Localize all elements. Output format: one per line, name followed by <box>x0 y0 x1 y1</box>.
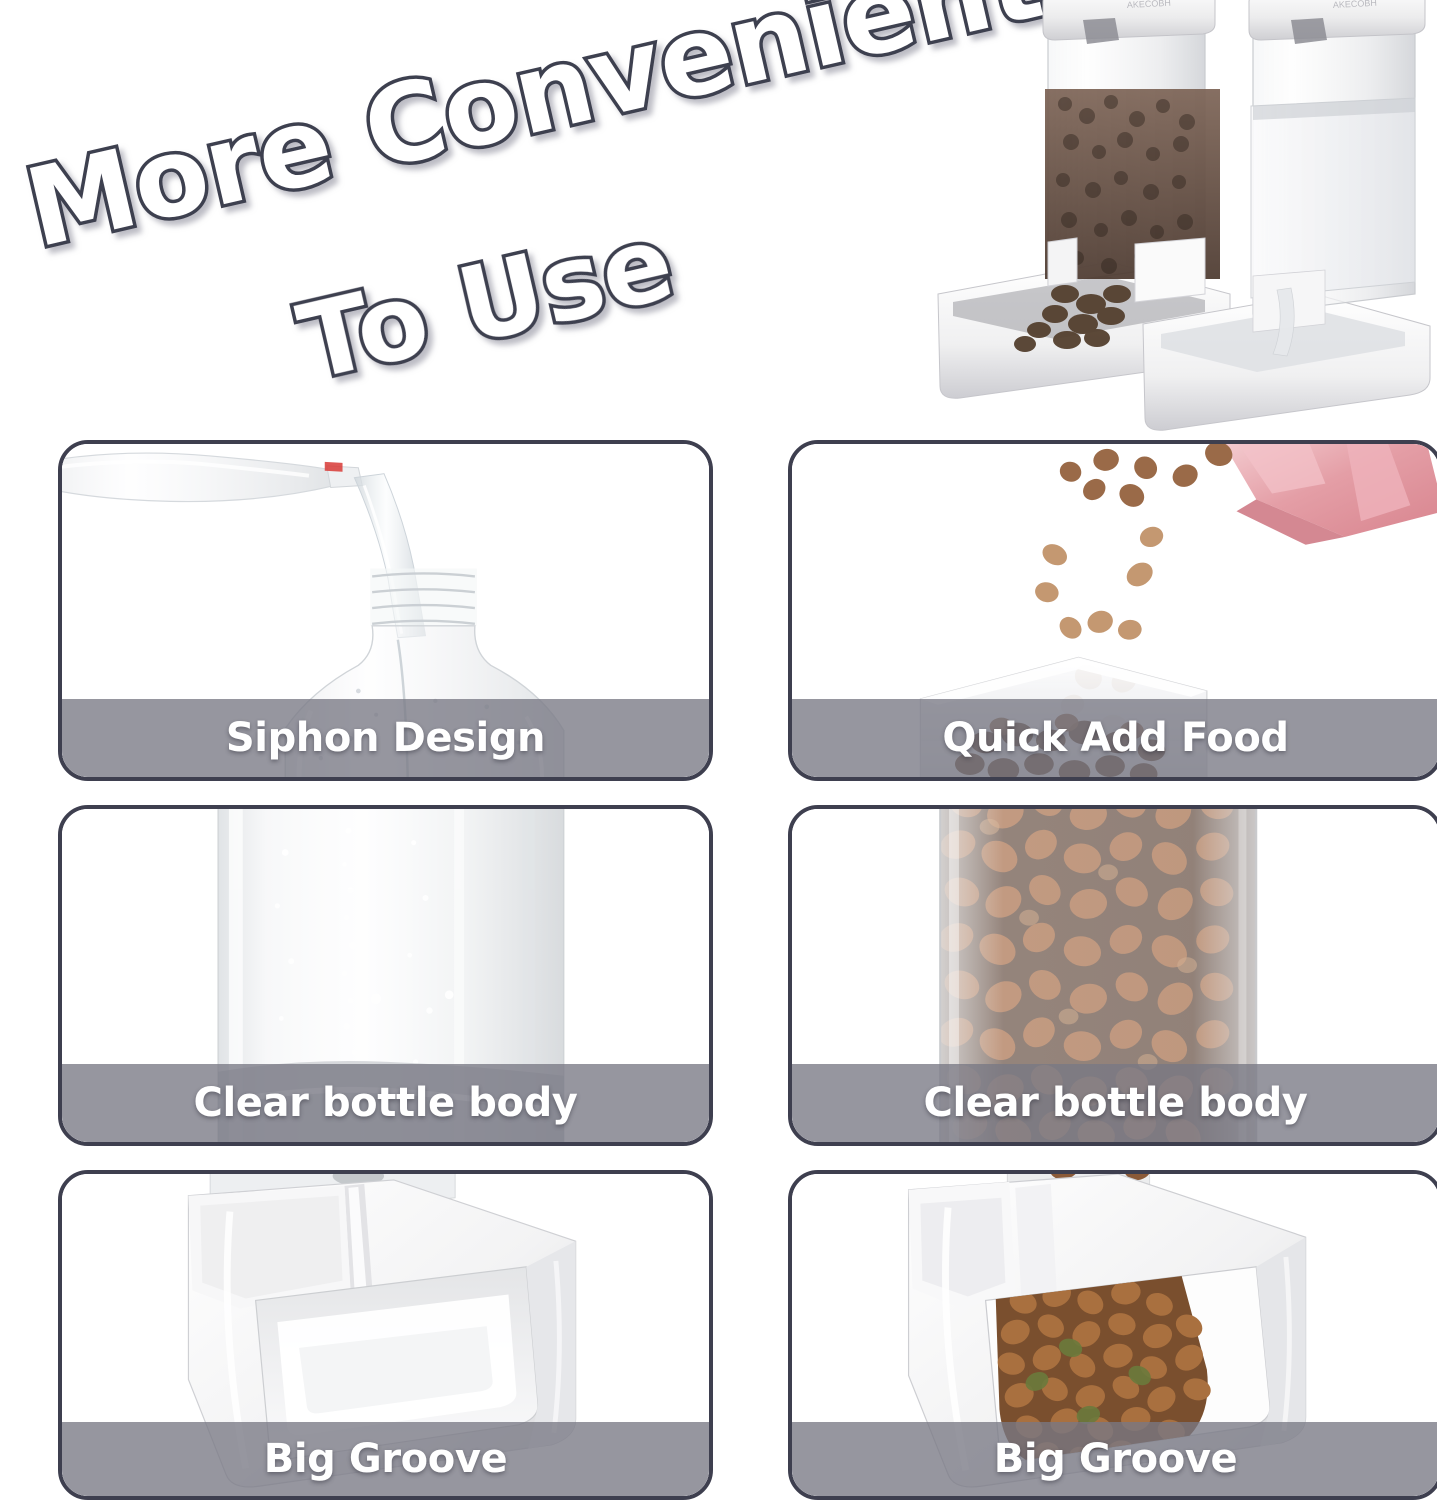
photo-empty-water-bowl-groove <box>62 1174 709 1496</box>
hero-title-line-2: To Use <box>289 202 684 404</box>
photo-kibble-pour-from-bag <box>792 444 1437 777</box>
feature-card-big-groove-food[interactable]: Big Groove <box>788 1170 1437 1500</box>
photo-kibble-filled-bowl-groove <box>792 1174 1437 1496</box>
photo-clear-food-container <box>792 809 1437 1142</box>
photo-water-pour-into-bottle <box>62 444 709 777</box>
photo-clear-water-bottle <box>62 809 709 1142</box>
hero-title-line-1: More Convenient <box>16 0 1053 272</box>
hero-title: More Convenient To Use <box>18 62 898 392</box>
feature-card-grid: Siphon Design <box>0 436 1437 1500</box>
feature-card-quick-add-food[interactable]: Quick Add Food <box>788 440 1437 781</box>
feature-card-clear-bottle-body-water[interactable]: Clear bottle body <box>58 805 713 1146</box>
feature-card-big-groove-water[interactable]: Big Groove <box>58 1170 713 1500</box>
feature-card-siphon-design[interactable]: Siphon Design <box>58 440 713 781</box>
feature-card-clear-bottle-body-food[interactable]: Clear bottle body <box>788 805 1437 1146</box>
hero-product-photo: AKECOBH AKECOBH <box>905 0 1437 434</box>
